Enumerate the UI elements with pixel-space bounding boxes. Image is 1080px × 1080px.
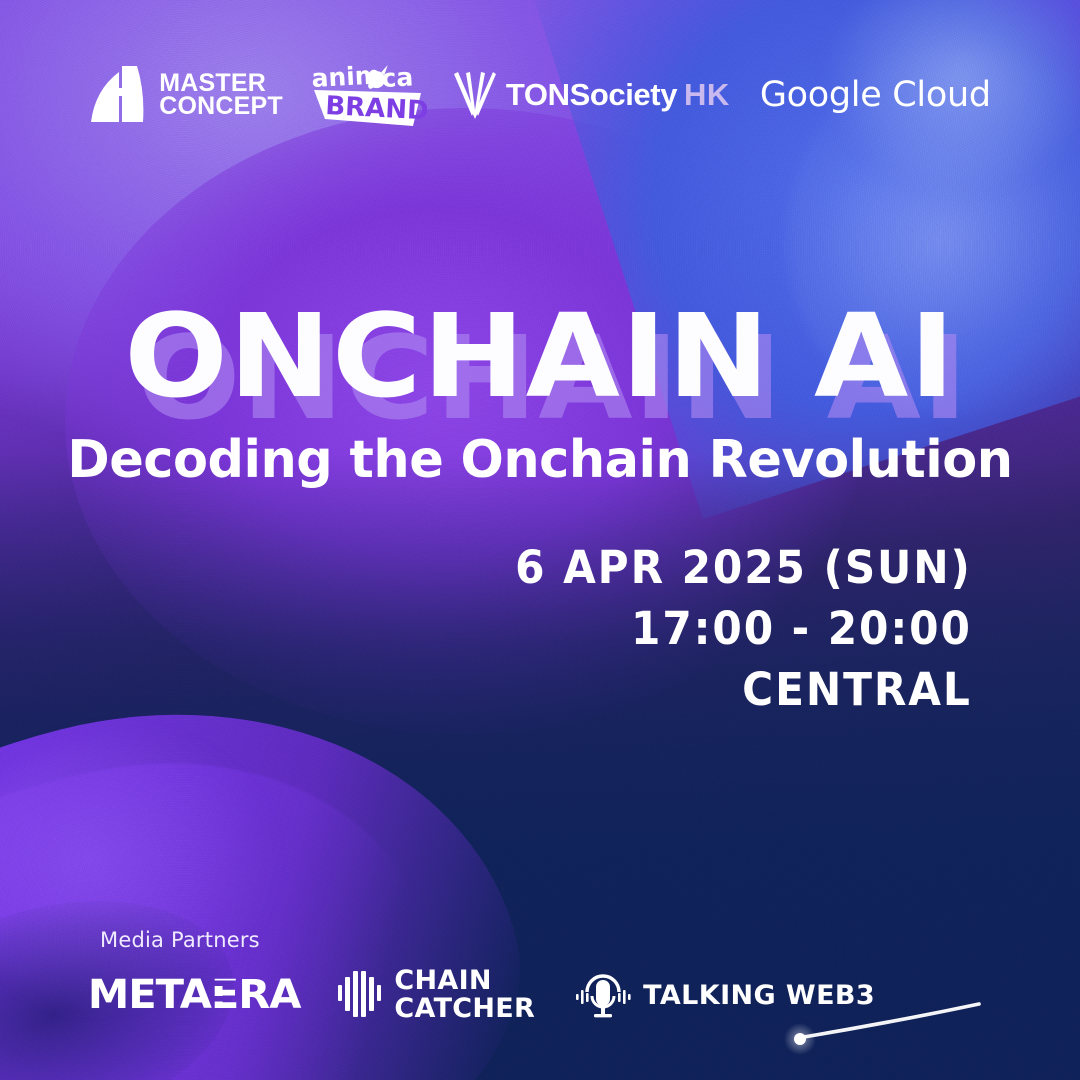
sponsor-animoca-brands: anim ca BRANDS [309, 58, 427, 132]
ton-label: TON [506, 77, 570, 112]
metaera-part2: E [211, 972, 238, 1018]
google-cloud-wordmark: Google Cloud [760, 75, 991, 115]
event-details: 6 APR 2025 (SUN) 17:00 - 20:00 CENTRAL [515, 537, 972, 721]
ton-society-wordmark: TONSocietyHK [506, 77, 730, 113]
poster-subtitle: Decoding the Onchain Revolution [11, 430, 1069, 490]
svg-text:BRANDS: BRANDS [325, 91, 427, 127]
media-partners-label: Media Partners [100, 928, 260, 952]
media-partner-metaera: METAERA [92, 962, 296, 1028]
sponsor-master-concept: MASTER CONCEPT [89, 58, 283, 132]
event-date: 6 APR 2025 (SUN) [515, 537, 972, 598]
chain-catcher-icon [336, 969, 382, 1021]
sponsor-logo-row: MASTER CONCEPT anim ca [0, 58, 1080, 132]
animoca-brands-icon: anim ca BRANDS [309, 62, 427, 128]
metaera-part3: RA [238, 972, 300, 1018]
media-partner-chain-catcher: CHAIN CATCHER [336, 962, 535, 1028]
talking-web3-microphone-icon [575, 968, 631, 1022]
metaera-part1: META [88, 972, 211, 1018]
master-concept-line2: CONCEPT [159, 95, 283, 119]
sponsor-ton-society: TONSocietyHK [453, 58, 730, 132]
media-partner-row: METAERA CHAIN CATCHER [92, 962, 875, 1028]
event-time: 17:00 - 20:00 [515, 598, 972, 659]
event-poster: MASTER CONCEPT anim ca [0, 0, 1080, 1080]
sponsor-google-cloud: Google Cloud [756, 58, 991, 132]
poster-title-front: ONCHAIN AI [0, 300, 1080, 415]
poster-title: ONCHAIN AI ONCHAIN AI [0, 300, 1080, 415]
event-venue: CENTRAL [515, 659, 972, 720]
chain-catcher-line1: CHAIN [394, 967, 535, 995]
society-label: Society [570, 77, 677, 112]
headline-block: ONCHAIN AI ONCHAIN AI [0, 300, 1080, 415]
master-concept-icon [89, 66, 151, 124]
svg-text:ca: ca [381, 62, 414, 93]
ton-region-label: HK [684, 77, 730, 112]
metaera-wordmark: METAERA [88, 972, 301, 1018]
master-concept-wordmark: MASTER CONCEPT [159, 72, 283, 119]
ton-diamond-icon [453, 70, 497, 120]
chain-catcher-wordmark: CHAIN CATCHER [394, 967, 535, 1022]
comet-decoration-icon [774, 976, 1044, 1056]
chain-catcher-line2: CATCHER [394, 995, 535, 1023]
